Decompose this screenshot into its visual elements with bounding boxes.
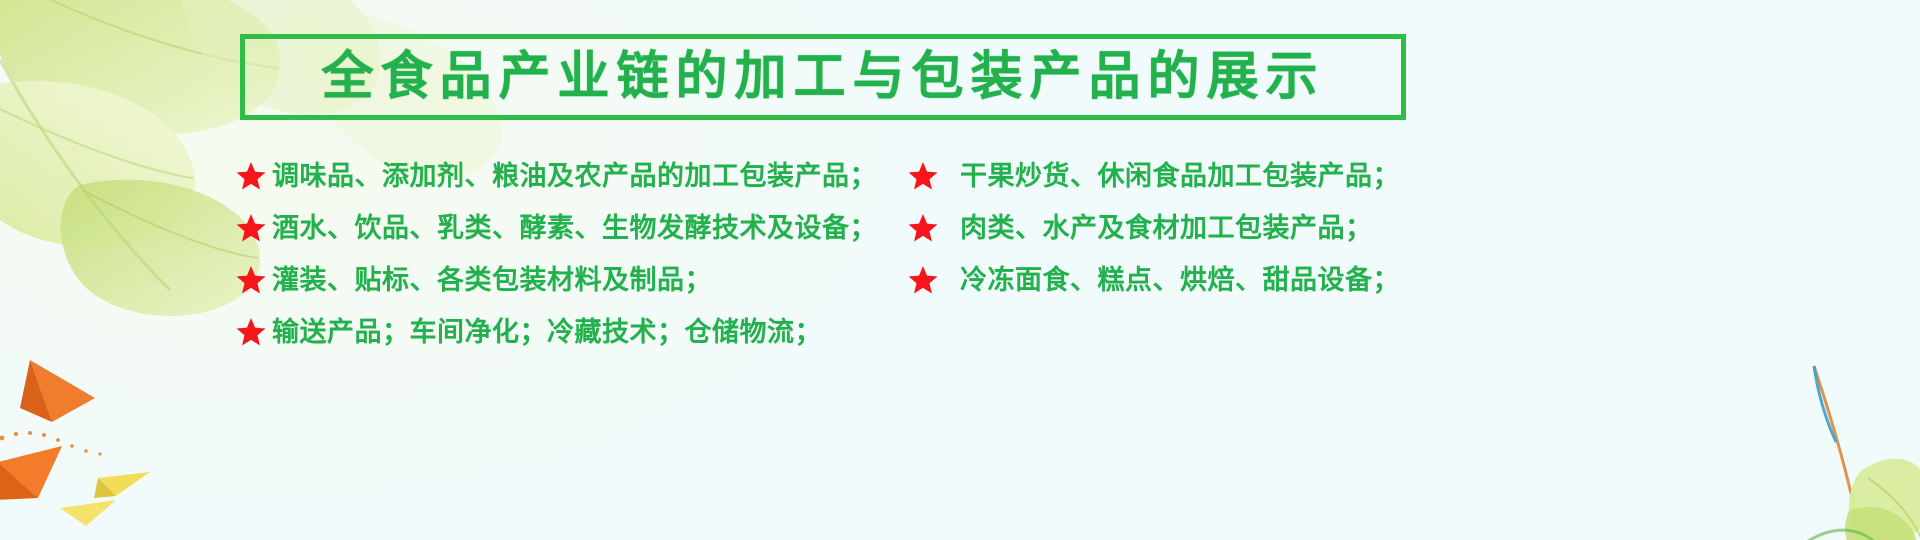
list-item: 肉类、水产及食材加工包装产品； <box>898 202 1618 254</box>
list-item: 干果炒货、休闲食品加工包装产品； <box>898 150 1618 202</box>
page-title: 全食品产业链的加工与包装产品的展示 <box>321 51 1324 103</box>
list-item: 灌装、贴标、各类包装材料及制品； <box>236 254 936 306</box>
star-icon <box>236 161 266 191</box>
bullet-column-right: 干果炒货、休闲食品加工包装产品； 肉类、水产及食材加工包装产品； 冷冻面食、糕点… <box>898 150 1618 306</box>
list-item: 酒水、饮品、乳类、酵素、生物发酵技术及设备； <box>236 202 936 254</box>
banner-title-box: 全食品产业链的加工与包装产品的展示 <box>240 34 1406 120</box>
list-item-label: 冷冻面食、糕点、烘焙、甜品设备； <box>960 267 1400 294</box>
bullet-column-left: 调味品、添加剂、粮油及农产品的加工包装产品； 酒水、饮品、乳类、酵素、生物发酵技… <box>236 150 936 358</box>
list-item-label: 输送产品；车间净化；冷藏技术；仓储物流； <box>272 319 822 346</box>
bullet-lists: 调味品、添加剂、粮油及农产品的加工包装产品； 酒水、饮品、乳类、酵素、生物发酵技… <box>236 150 1656 400</box>
star-icon <box>236 265 266 295</box>
star-icon <box>236 213 266 243</box>
list-item-label: 调味品、添加剂、粮油及农产品的加工包装产品； <box>272 163 877 190</box>
list-item: 冷冻面食、糕点、烘焙、甜品设备； <box>898 254 1618 306</box>
star-icon <box>908 161 938 191</box>
promo-banner: 全食品产业链的加工与包装产品的展示 调味品、添加剂、粮油及农产品的加工包装产品； <box>0 0 1920 540</box>
list-item-label: 灌装、贴标、各类包装材料及制品； <box>272 267 712 294</box>
list-item: 输送产品；车间净化；冷藏技术；仓储物流； <box>236 306 936 358</box>
list-item: 调味品、添加剂、粮油及农产品的加工包装产品； <box>236 150 936 202</box>
list-item-label: 酒水、饮品、乳类、酵素、生物发酵技术及设备； <box>272 215 877 242</box>
star-icon <box>908 265 938 295</box>
star-icon <box>236 317 266 347</box>
star-icon <box>908 213 938 243</box>
list-item-label: 干果炒货、休闲食品加工包装产品； <box>960 163 1400 190</box>
list-item-label: 肉类、水产及食材加工包装产品； <box>960 215 1373 242</box>
